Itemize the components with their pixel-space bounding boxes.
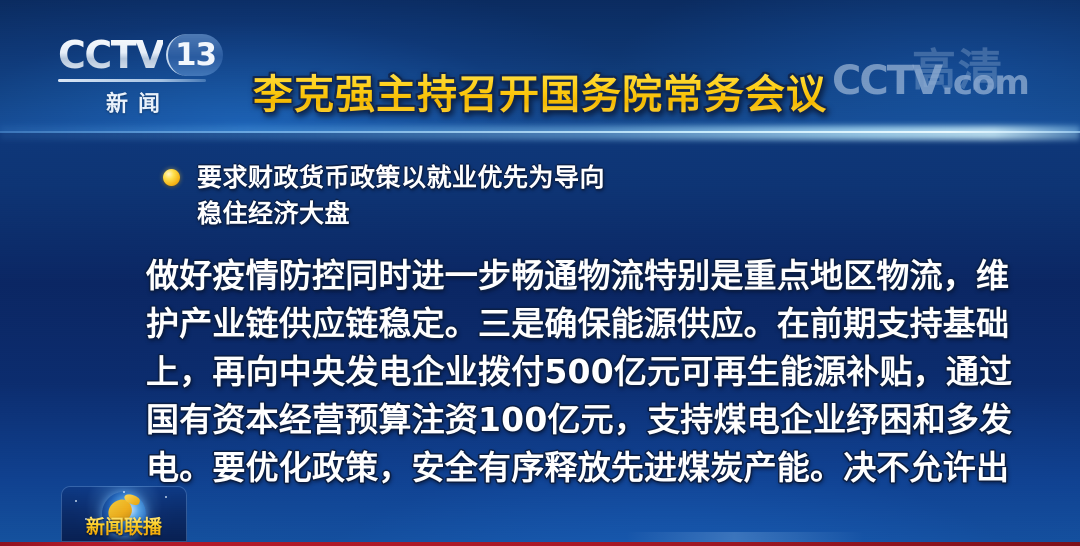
subheadline-line-2: 稳住经济大盘 (163, 196, 993, 232)
news-body-text: 做好疫情防控同时进一步畅通物流特别是重点地区物流，维 护产业链供应链稳定。三是确… (146, 252, 946, 492)
bullet-dot-icon (163, 169, 180, 186)
subheadline-block: 要求财政货币政策以就业优先为导向 稳住经济大盘 (163, 160, 993, 232)
subheadline-text-1: 要求财政货币政策以就业优先为导向 (197, 160, 605, 196)
banner-divider-line (0, 131, 1080, 133)
body-line: 做好疫情防控同时进一步畅通物流特别是重点地区物流，维 (146, 252, 946, 300)
banner-divider-glow (0, 126, 1080, 140)
body-line: 护产业链供应链稳定。三是确保能源供应。在前期支持基础 (146, 300, 946, 348)
body-line: 电。要优化政策，安全有序释放先进煤炭产能。决不允许出 (146, 444, 946, 492)
bottom-red-bar (0, 542, 1080, 546)
subheadline-line-1: 要求财政货币政策以就业优先为导向 (163, 160, 993, 196)
broadcast-screen: CCTV 13 新闻 高清 CCTV.com 李克强主持召开国务院常务会议 要求… (0, 0, 1080, 546)
star-icon (123, 491, 125, 493)
star-icon (165, 496, 167, 498)
news-headline: 李克强主持召开国务院常务会议 (0, 62, 1080, 120)
body-line: 国有资本经营预算注资100亿元，支持煤电企业纾困和多发 (146, 396, 946, 444)
subheadline-text-2: 稳住经济大盘 (197, 196, 350, 232)
body-line: 上，再向中央发电企业拨付500亿元可再生能源补贴，通过 (146, 348, 946, 396)
bottom-sheen (0, 532, 1080, 542)
star-icon (75, 500, 77, 502)
